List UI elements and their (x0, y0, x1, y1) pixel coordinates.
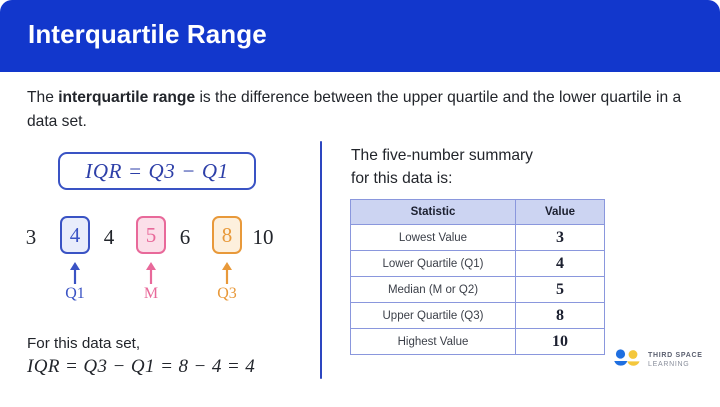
data-value-6: 8 (214, 218, 240, 252)
conclusion-block: For this data set, IQR = Q3 − Q1 = 8 − 4… (27, 333, 307, 379)
slide-root: Interquartile Range The interquartile ra… (0, 0, 720, 407)
cell-value: 8 (516, 303, 605, 329)
conclusion-line-2: IQR = Q3 − Q1 = 8 − 4 = 4 (27, 354, 307, 379)
arrow-up-icon (68, 262, 82, 284)
data-value-3: 4 (98, 225, 120, 250)
marker-q3-label: Q3 (207, 285, 247, 303)
cell-statistic: Lower Quartile (Q1) (351, 251, 516, 277)
data-value-6-q3-box: 8 (212, 216, 242, 254)
iqr-formula-text: IQR = Q3 − Q1 (60, 154, 254, 188)
intro-term-bold: interquartile range (58, 89, 195, 106)
cell-value: 5 (516, 277, 605, 303)
marker-median-label: M (131, 285, 171, 303)
brand-logo: THIRD SPACE LEARNING (612, 348, 712, 376)
vertical-divider (320, 141, 322, 379)
third-space-learning-logo-icon (612, 348, 642, 374)
arrow-up-icon (144, 262, 158, 284)
data-value-4: 5 (138, 218, 164, 252)
data-value-4-median-box: 5 (136, 216, 166, 254)
table-row: Lowest Value 3 (351, 225, 605, 251)
cell-statistic: Lowest Value (351, 225, 516, 251)
iqr-formula-box: IQR = Q3 − Q1 (58, 152, 256, 190)
data-value-2: 4 (62, 218, 88, 252)
table-row: Highest Value 10 (351, 329, 605, 355)
cell-statistic: Highest Value (351, 329, 516, 355)
summary-heading-line-1: The five-number summary (351, 144, 651, 167)
table-header-row: Statistic Value (351, 200, 605, 225)
cell-value: 10 (516, 329, 605, 355)
table-row: Median (M or Q2) 5 (351, 277, 605, 303)
table-body: Lowest Value 3 Lower Quartile (Q1) 4 Med… (351, 225, 605, 355)
conclusion-line-1: For this data set, (27, 333, 307, 354)
table-head: Statistic Value (351, 200, 605, 225)
five-number-summary-table: Statistic Value Lowest Value 3 Lower Qua… (350, 199, 605, 355)
cell-value: 3 (516, 225, 605, 251)
marker-q1: Q1 (55, 262, 95, 303)
arrow-up-icon (220, 262, 234, 284)
logo-wordmark: THIRD SPACE LEARNING (648, 352, 703, 369)
column-header-value: Value (516, 200, 605, 225)
logo-wordmark-line-2: LEARNING (648, 361, 703, 370)
logo-wordmark-line-1: THIRD SPACE (648, 352, 703, 361)
five-number-summary-heading: The five-number summary for this data is… (351, 144, 651, 190)
cell-statistic: Median (M or Q2) (351, 277, 516, 303)
table-row: Lower Quartile (Q1) 4 (351, 251, 605, 277)
cell-statistic: Upper Quartile (Q3) (351, 303, 516, 329)
data-set-row: 3 4 4 5 6 8 10 (0, 214, 310, 260)
intro-paragraph: The interquartile range is the differenc… (27, 86, 687, 134)
table-row: Upper Quartile (Q3) 8 (351, 303, 605, 329)
data-value-5: 6 (174, 225, 196, 250)
marker-q1-label: Q1 (55, 285, 95, 303)
summary-heading-line-2: for this data is: (351, 167, 651, 190)
column-header-statistic: Statistic (351, 200, 516, 225)
cell-value: 4 (516, 251, 605, 277)
intro-text-before: The (27, 89, 58, 106)
marker-q3: Q3 (207, 262, 247, 303)
marker-median: M (131, 262, 171, 303)
data-value-1: 3 (20, 225, 42, 250)
data-value-2-q1-box: 4 (60, 216, 90, 254)
page-title: Interquartile Range (28, 19, 267, 50)
data-value-7: 10 (248, 225, 278, 250)
